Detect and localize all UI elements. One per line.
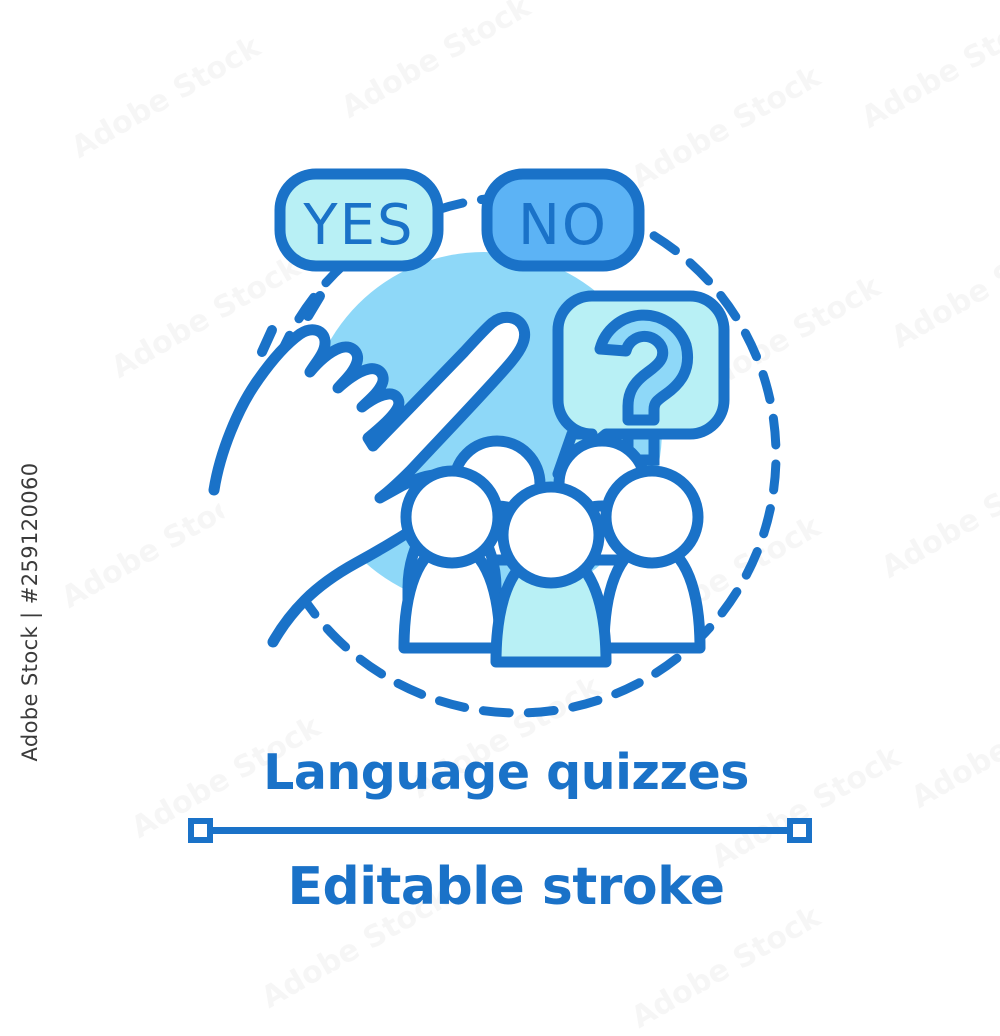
divider-line xyxy=(200,827,800,834)
person-left-head xyxy=(406,471,498,563)
caption-block: Language quizzes Editable stroke xyxy=(0,748,1000,913)
divider-handle-left[interactable] xyxy=(188,818,213,843)
watermark-strip: Adobe Stock | #259120060 xyxy=(0,0,56,1000)
answer-button-yes[interactable]: YES xyxy=(280,174,438,266)
person-left xyxy=(404,471,500,648)
answer-button-yes-label: YES xyxy=(302,193,414,258)
person-center-head xyxy=(503,487,599,583)
divider-handle-right[interactable] xyxy=(787,818,812,843)
divider-rule xyxy=(188,815,812,845)
answer-button-no-label: NO xyxy=(518,193,608,258)
watermark-label: Adobe Stock | #259120060 xyxy=(18,402,42,822)
answer-button-no[interactable]: NO xyxy=(487,174,639,266)
person-right-head xyxy=(606,471,698,563)
page-title: Language quizzes xyxy=(0,748,1000,797)
person-center-highlighted xyxy=(496,487,606,662)
person-right xyxy=(604,471,700,648)
page-subtitle: Editable stroke xyxy=(0,861,1000,913)
